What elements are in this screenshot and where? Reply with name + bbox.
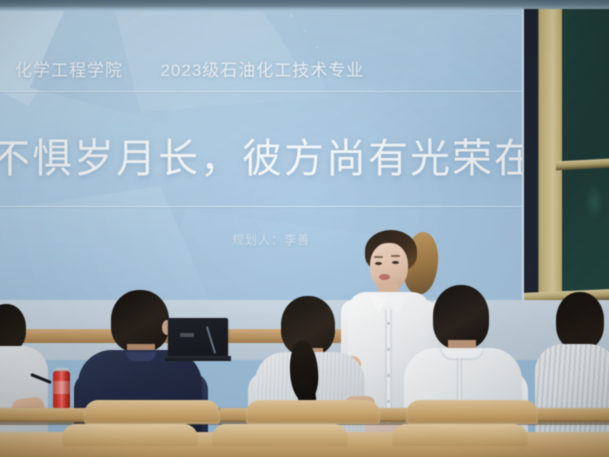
student-navy-collar [126,352,156,361]
classroom-photo: 化学工程学院 2023级石油化工技术专业 年不惧岁月长，彼方尚有光荣在 规划人：… [0,0,609,457]
student-navy-head [111,290,169,352]
speaker-shirt-button [387,322,390,325]
screen-mount-bar-edge [0,7,522,11]
sparkle-dot [304,30,306,32]
speaker-eye-left [375,262,382,265]
slide-divider-top [0,91,522,92]
projection-screen: 化学工程学院 2023级石油化工技术专业 年不惧岁月长，彼方尚有光荣在 规划人：… [0,0,522,330]
slide-subtitle: 规划人：李善 [232,231,310,248]
student-striped-top [535,344,609,440]
slide-program-label: 2023级石油化工技术专业 [160,61,364,80]
speaker-eye-right [392,261,399,264]
speaker-shirt-button [387,374,390,377]
student-far-left-top [0,346,48,441]
laptop-base [165,356,231,361]
speaker-eyebrow-left [374,256,383,258]
slide-header-text: 化学工程学院 2023级石油化工技术专业 [15,56,364,81]
slide-department-label: 化学工程学院 [15,61,123,80]
sparkle-dot [316,46,318,48]
slide-divider-bottom [0,206,522,207]
can-label [53,381,70,394]
chair-back [84,400,220,424]
speaker-shirt-button [387,348,390,351]
sparkle-dot [290,14,293,17]
blackboard-glare [585,185,603,219]
chair-back-front [62,424,198,446]
chair-back [406,400,538,424]
speaker-shirt-button [387,400,390,403]
slide-title: 年不惧岁月长，彼方尚有光荣在 [0,126,522,184]
chair-back-front [392,424,528,446]
student-white-collar [440,348,484,360]
student-striped-head [556,292,604,350]
chair-back-front [212,424,348,446]
speaker-eyebrow-right [391,255,400,257]
speaker-mouth [379,274,390,280]
laptop-lid [168,318,228,358]
chair-back [246,400,380,424]
laptop-logo [180,333,194,337]
